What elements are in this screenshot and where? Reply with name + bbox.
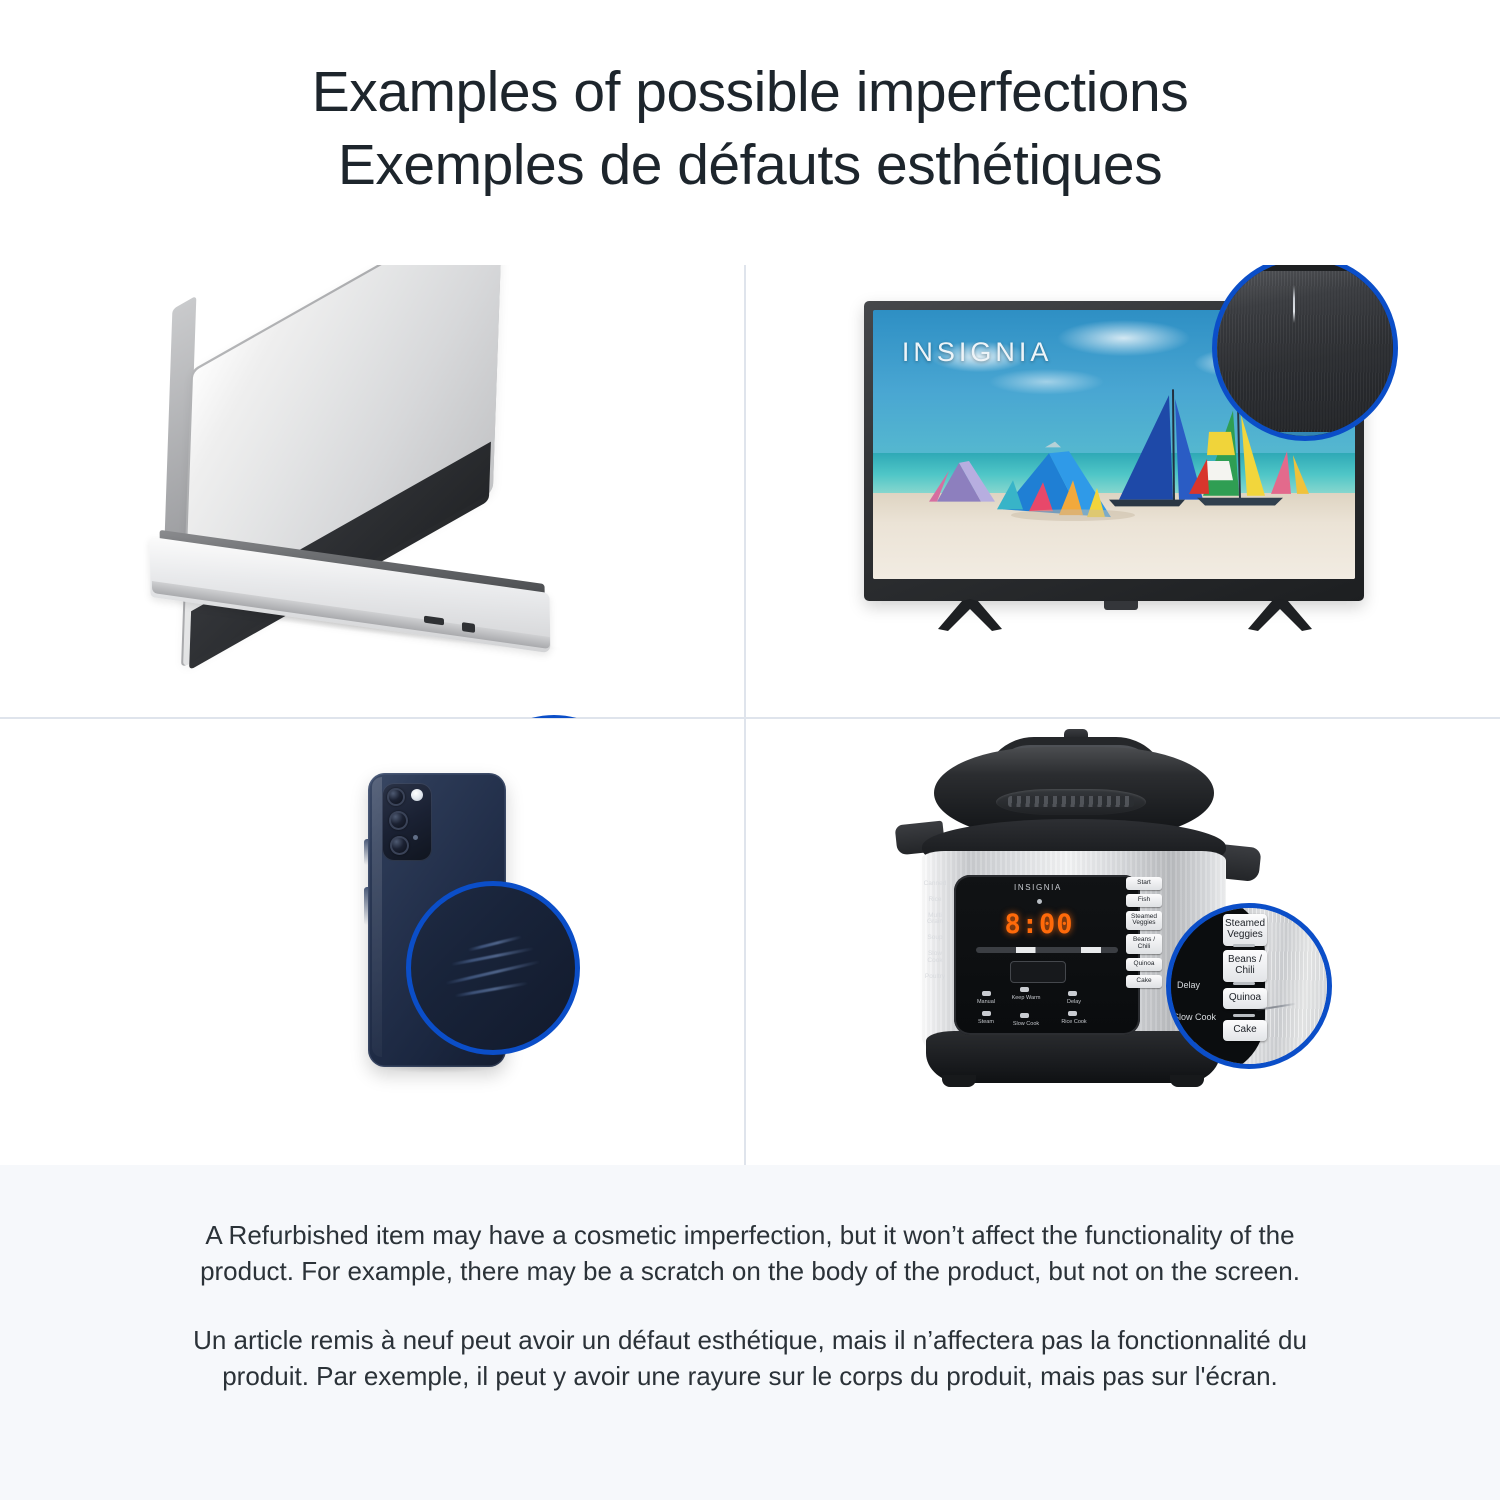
quadrant-television: INSIGNIA: [746, 265, 1500, 718]
cooker-center-key-1[interactable]: [982, 991, 991, 996]
camera-lens-1: [387, 788, 405, 806]
laptop-illustration: [0, 265, 745, 718]
cooker-button-fish[interactable]: Fish: [1126, 894, 1162, 907]
description-english: A Refurbished item may have a cosmetic i…: [180, 1217, 1320, 1290]
cooker-button-start[interactable]: Start: [1126, 877, 1162, 890]
pressure-cooker-illustration: INSIGNIA 8:00 Canned Rice Multi Grain So…: [746, 719, 1500, 1165]
cooker-lid-grille: [996, 789, 1146, 815]
cooker-center-label-delay: Delay: [1056, 999, 1092, 1005]
cooker-center-label-steam: Steam: [968, 1019, 1004, 1025]
cooker-control-panel: INSIGNIA 8:00 Canned Rice Multi Grain So…: [954, 875, 1140, 1035]
cooker-magnified-button-quinoa[interactable]: Quinoa: [1223, 988, 1267, 1009]
camera-flash-icon: [411, 789, 423, 801]
smartphone-illustration: [0, 719, 745, 1165]
magnifier-circle-icon-cooker: Delay Slow Cook Steamed Veggies Beans / …: [1166, 903, 1332, 1069]
tv-magnified-bezel-texture: [1212, 271, 1397, 433]
tv-center-badge: [1104, 601, 1138, 610]
header: Examples of possible imperfections Exemp…: [0, 0, 1500, 265]
cooker-magnified-button-cake[interactable]: Cake: [1223, 1020, 1267, 1041]
cooker-magnified-label-delay: Delay: [1177, 980, 1200, 990]
cooker-center-label-keepwarm: Keep Warm: [1008, 995, 1044, 1001]
cooker-sub-display: [1010, 961, 1066, 983]
cooker-led-display: 8:00: [998, 909, 1080, 939]
tv-stand-right: [1246, 599, 1316, 631]
cooker-magnified-button-beans[interactable]: Beans / Chili: [1223, 950, 1267, 982]
cooker-center-key-4[interactable]: [982, 1011, 991, 1016]
cooker-left-label-2[interactable]: Multi Grain: [920, 913, 950, 927]
examples-grid: INSIGNIA: [0, 265, 1500, 1165]
cooker-magnified-label-slowcook: Slow Cook: [1173, 1012, 1216, 1022]
cooker-left-label-0[interactable]: Canned: [920, 881, 950, 888]
cooker-left-label-4[interactable]: Slow Cook: [920, 951, 950, 965]
page-title-english: Examples of possible imperfections: [312, 60, 1188, 125]
triple-camera-module-icon: [382, 783, 432, 861]
tv-stand-left: [936, 599, 1006, 631]
camera-lens-3: [390, 836, 409, 855]
cooker-center-label-ricecook: Rice Cook: [1056, 1019, 1092, 1025]
cooker-magnified-tick-2: [1233, 982, 1255, 985]
tv-brand-logo: INSIGNIA: [902, 337, 1053, 368]
magnifier-circle-icon-tv: [1212, 265, 1398, 441]
refurbished-imperfections-infographic: Examples of possible imperfections Exemp…: [0, 0, 1500, 1500]
magnifier-circle-icon-phone: [406, 881, 580, 1055]
cooker-button-steamed-veggies[interactable]: Steamed Veggies: [1126, 911, 1162, 931]
cooker-button-cake[interactable]: Cake: [1126, 975, 1162, 988]
cooker-center-label-manual: Manual: [968, 999, 1004, 1005]
phone-scratch-defect-4: [467, 935, 522, 951]
quadrant-laptop: [0, 265, 745, 718]
cooker-magnified-tick-3: [1233, 1014, 1255, 1017]
cooker-left-button-column[interactable]: Canned Rice Multi Grain Soup Slow Cook P…: [920, 881, 950, 990]
laptop-port-aux: [462, 622, 475, 633]
cooker-foot-left: [942, 1075, 976, 1087]
quadrant-pressure-cooker: INSIGNIA 8:00 Canned Rice Multi Grain So…: [746, 719, 1500, 1165]
cooker-button-quinoa[interactable]: Quinoa: [1126, 958, 1162, 971]
cooker-center-key-3[interactable]: [1068, 991, 1077, 996]
cooker-center-key-5[interactable]: [1020, 1013, 1029, 1018]
cooker-right-button-column[interactable]: Start Fish Steamed Veggies Beans / Chili…: [1126, 877, 1162, 992]
camera-lens-2: [389, 811, 408, 830]
footer-description: A Refurbished item may have a cosmetic i…: [0, 1165, 1500, 1500]
tv-scuff-defect: [1293, 285, 1295, 324]
cooker-foot-right: [1170, 1075, 1204, 1087]
cooker-left-label-3[interactable]: Soup: [920, 935, 950, 942]
cooker-brand-label: INSIGNIA: [1014, 883, 1062, 892]
cooker-mode-bar: [976, 947, 1118, 953]
cooker-center-key-2[interactable]: [1020, 987, 1029, 992]
quadrant-smartphone: [0, 719, 745, 1165]
phone-scratch-defect-3: [454, 981, 529, 997]
cooker-left-label-1[interactable]: Rice: [920, 897, 950, 904]
cooker-magnified-button-veggies[interactable]: Steamed Veggies: [1223, 914, 1267, 946]
cooker-left-label-5[interactable]: Poultry: [920, 974, 950, 981]
cooker-center-key-6[interactable]: [1068, 1011, 1077, 1016]
cooker-magnified-tick-1: [1233, 944, 1255, 947]
cooker-indicator-dot: [1037, 899, 1042, 904]
phone-edge-highlight: [372, 777, 382, 1057]
cooker-center-label-slowcook: Slow Cook: [1008, 1021, 1044, 1027]
camera-sensor-dot: [413, 835, 418, 840]
page-title-french: Exemples de défauts esthétiques: [338, 133, 1162, 198]
cooker-button-beans-chili[interactable]: Beans / Chili: [1126, 934, 1162, 954]
description-french: Un article remis à neuf peut avoir un dé…: [180, 1322, 1320, 1395]
